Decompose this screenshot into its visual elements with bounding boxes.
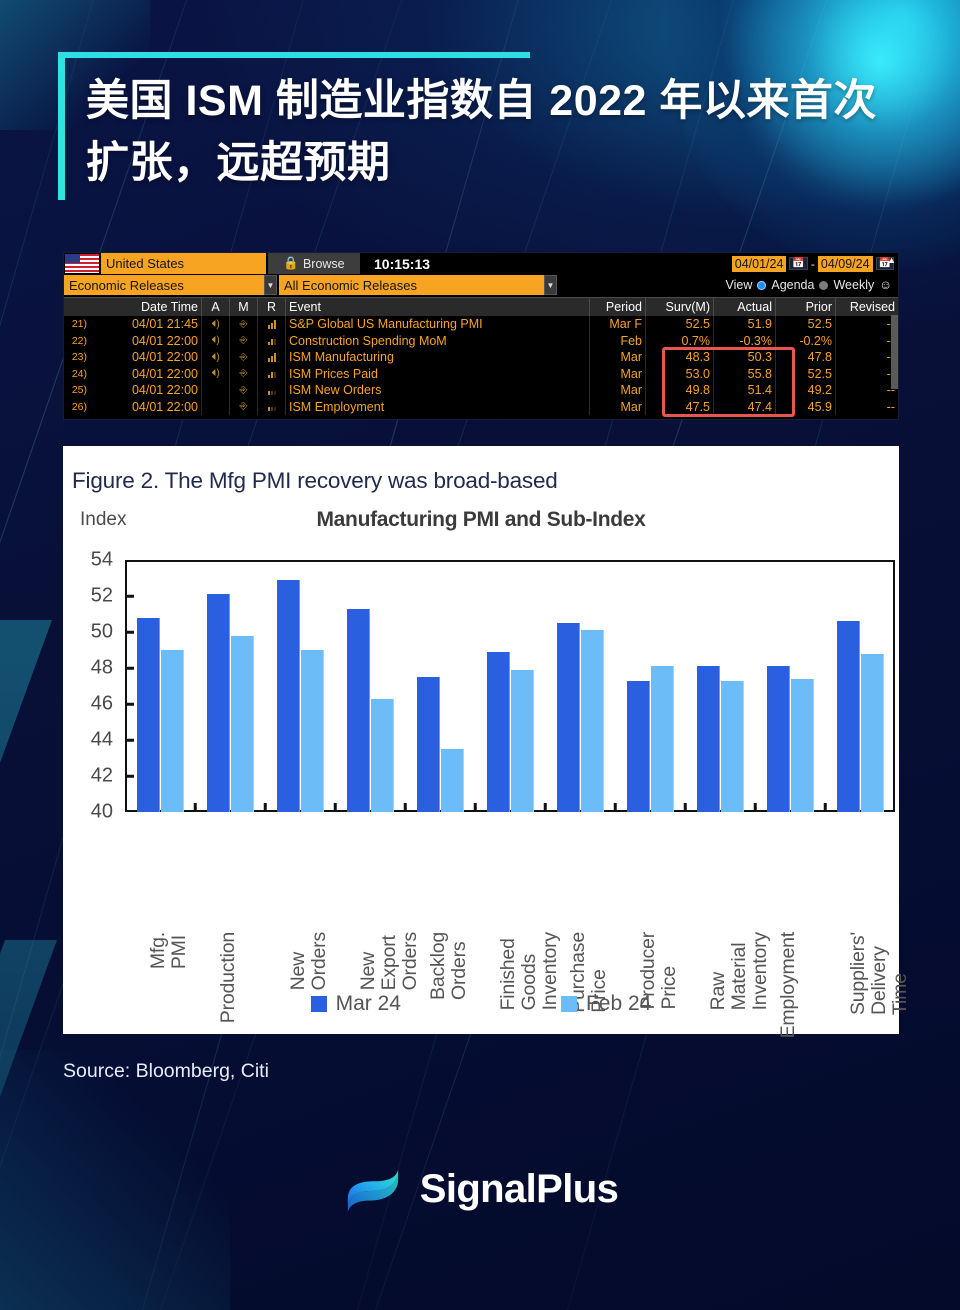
speaker-icon[interactable]: ⏴) — [211, 319, 219, 330]
alert-sound-cell[interactable]: ⏴) — [202, 316, 230, 333]
date-to-field[interactable]: 04/09/24 — [818, 256, 873, 272]
radio-agenda-selected[interactable] — [757, 281, 766, 290]
row-datetime: 04/01 22:00 — [90, 382, 202, 399]
country-field[interactable]: United States — [101, 253, 266, 274]
bar — [487, 652, 510, 812]
bar — [627, 681, 650, 812]
bar — [791, 679, 814, 812]
column-header-survey[interactable]: Surv(M) — [646, 298, 714, 316]
bar — [137, 618, 160, 812]
row-prior: 47.8 — [776, 349, 836, 366]
chart-title: Manufacturing PMI and Sub-Index — [63, 508, 899, 532]
row-datetime: 04/01 22:00 — [90, 399, 202, 416]
row-survey: 48.3 — [646, 349, 714, 366]
bar — [651, 666, 674, 812]
table-row[interactable]: 21)04/01 21:45⏴)⎆S&P Global US Manufactu… — [64, 316, 898, 333]
bar-group — [405, 560, 475, 812]
relevance-cell — [258, 349, 286, 366]
table-row[interactable]: 25)04/01 22:00⎆ISM New OrdersMar49.851.4… — [64, 382, 898, 399]
chevron-down-icon[interactable]: ▼ — [544, 275, 557, 295]
date-range-separator: - — [811, 257, 815, 271]
row-prior: 45.9 — [776, 399, 836, 416]
row-revised: -- — [836, 316, 898, 333]
table-row[interactable]: 22)04/01 22:00⏴)⎆Construction Spending M… — [64, 333, 898, 350]
row-period: Mar — [590, 399, 646, 416]
y-tick-label: 40 — [91, 801, 113, 824]
bar-group — [125, 560, 195, 812]
bar — [231, 636, 254, 812]
row-event-name[interactable]: ISM Prices Paid — [286, 366, 590, 383]
y-tick-label: 48 — [91, 657, 113, 680]
row-revised: -- — [836, 366, 898, 383]
row-survey: 53.0 — [646, 366, 714, 383]
bar-group — [475, 560, 545, 812]
x-tick-mark — [404, 803, 407, 812]
bar-group — [755, 560, 825, 812]
bar-group — [825, 560, 895, 812]
table-row[interactable]: 23)04/01 22:00⏴)⎆ISM ManufacturingMar48.… — [64, 349, 898, 366]
table-header-row: Date Time A M R Event Period Surv(M) Act… — [64, 297, 898, 316]
bell-icon[interactable]: ⎆ — [240, 352, 248, 363]
bar — [837, 621, 860, 812]
x-tick-mark — [684, 803, 687, 812]
bar-group — [265, 560, 335, 812]
alarm-cell[interactable]: ⎆ — [230, 366, 258, 383]
weekly-label[interactable]: Weekly — [833, 278, 874, 292]
row-period: Mar — [590, 349, 646, 366]
speaker-icon[interactable]: ⏴) — [211, 352, 219, 363]
bar — [277, 580, 300, 812]
relevance-cell — [258, 382, 286, 399]
legend-item[interactable]: Feb 24 — [561, 992, 651, 1016]
lock-icon: 🔒 — [283, 256, 299, 271]
signal-bars-icon — [268, 353, 276, 362]
bar — [207, 594, 230, 812]
speaker-icon[interactable]: ⏴) — [211, 335, 219, 346]
table-row[interactable]: 24)04/01 22:00⏴)⎆ISM Prices PaidMar53.05… — [64, 366, 898, 383]
row-actual: 51.9 — [714, 316, 776, 333]
row-survey: 47.5 — [646, 399, 714, 416]
row-index: 24) — [64, 366, 90, 383]
y-tick-label: 42 — [91, 765, 113, 788]
row-datetime: 04/01 22:00 — [90, 333, 202, 350]
relevance-cell — [258, 399, 286, 416]
column-header-actual[interactable]: Actual — [714, 298, 776, 316]
chevron-down-icon[interactable]: ▼ — [264, 275, 277, 295]
alert-sound-cell[interactable] — [202, 382, 230, 399]
row-prior: -0.2% — [776, 333, 836, 350]
alarm-cell[interactable]: ⎆ — [230, 382, 258, 399]
column-header-period[interactable]: Period — [590, 298, 646, 316]
row-event-name[interactable]: ISM Manufacturing — [286, 349, 590, 366]
bar — [347, 609, 370, 812]
row-period: Mar — [590, 382, 646, 399]
bar — [371, 699, 394, 812]
x-tick-mark — [264, 803, 267, 812]
row-datetime: 04/01 22:00 — [90, 366, 202, 383]
triangle-up-icon[interactable]: ▲ — [887, 255, 896, 265]
row-actual: 55.8 — [714, 366, 776, 383]
row-revised: -- — [836, 349, 898, 366]
y-tick-label: 50 — [91, 621, 113, 644]
y-tick-label: 52 — [91, 585, 113, 608]
column-index — [64, 298, 90, 316]
row-prior: 49.2 — [776, 382, 836, 399]
browse-button[interactable]: 🔒 Browse — [268, 253, 360, 274]
row-index: 23) — [64, 349, 90, 366]
row-survey: 49.8 — [646, 382, 714, 399]
bell-icon[interactable]: ⎆ — [240, 385, 248, 396]
accent-bar-vertical — [58, 52, 65, 200]
bar — [697, 666, 720, 812]
releases-dropdown[interactable]: Economic Releases — [64, 275, 264, 295]
column-header-revised[interactable]: Revised — [836, 298, 898, 316]
terminal-toolbar-row-2: Economic Releases ▼ All Economic Release… — [64, 275, 898, 295]
speaker-icon[interactable]: ⏴) — [211, 368, 219, 379]
bar — [301, 650, 324, 812]
us-flag-icon — [65, 254, 99, 273]
legend-label: Mar 24 — [336, 992, 401, 1016]
row-event-name[interactable]: ISM Employment — [286, 399, 590, 416]
signal-bars-icon — [268, 386, 276, 395]
bar — [721, 681, 744, 812]
x-tick-label: New Orders — [288, 932, 330, 990]
row-index: 26) — [64, 399, 90, 416]
bar — [417, 677, 440, 812]
x-tick-mark — [334, 803, 337, 812]
signal-bars-icon — [268, 320, 276, 329]
bar — [861, 654, 884, 812]
signal-bars-icon — [268, 336, 276, 345]
column-header-prior[interactable]: Prior — [776, 298, 836, 316]
bar — [581, 630, 604, 812]
alarm-cell[interactable]: ⎆ — [230, 399, 258, 416]
row-actual: 50.3 — [714, 349, 776, 366]
row-actual: -0.3% — [714, 333, 776, 350]
figure-card: Figure 2. The Mfg PMI recovery was broad… — [63, 446, 899, 1034]
row-event-name[interactable]: ISM New Orders — [286, 382, 590, 399]
bell-icon[interactable]: ⎆ — [240, 319, 248, 330]
view-label: View — [725, 278, 752, 292]
alarm-cell[interactable]: ⎆ — [230, 349, 258, 366]
brand-name: SignalPlus — [420, 1167, 619, 1212]
row-actual: 47.4 — [714, 399, 776, 416]
row-period: Mar F — [590, 316, 646, 333]
column-header-r[interactable]: R — [258, 298, 286, 316]
row-prior: 52.5 — [776, 366, 836, 383]
date-from-field[interactable]: 04/01/24 — [732, 256, 787, 272]
bar-group — [545, 560, 615, 812]
view-mode-controls: View Agenda Weekly ☺ — [725, 275, 898, 295]
alert-sound-cell[interactable]: ⏴) — [202, 366, 230, 383]
row-revised: -- — [836, 333, 898, 350]
calendar-icon[interactable]: 📅 — [789, 257, 807, 270]
x-tick-label: Employment — [778, 932, 799, 1038]
row-index: 22) — [64, 333, 90, 350]
agenda-label[interactable]: Agenda — [771, 278, 814, 292]
terminal-toolbar-row-1: United States 🔒 Browse 10:15:13 04/01/24… — [64, 253, 898, 274]
row-actual: 51.4 — [714, 382, 776, 399]
alert-sound-cell[interactable]: ⏴) — [202, 349, 230, 366]
legend-item[interactable]: Mar 24 — [311, 992, 401, 1016]
row-survey: 0.7% — [646, 333, 714, 350]
column-header-a[interactable]: A — [202, 298, 230, 316]
x-tick-label: Backlog Orders — [428, 932, 470, 1000]
x-tick-mark — [544, 803, 547, 812]
column-header-event[interactable]: Event — [286, 298, 590, 316]
figure-caption: Figure 2. The Mfg PMI recovery was broad… — [72, 468, 558, 494]
alert-sound-cell[interactable] — [202, 399, 230, 416]
legend-swatch — [561, 996, 577, 1012]
x-tick-mark — [474, 803, 477, 812]
table-row[interactable]: 26)04/01 22:00⎆ISM EmploymentMar47.547.4… — [64, 399, 898, 416]
relevance-cell — [258, 316, 286, 333]
footer-brand: SignalPlus — [0, 1158, 960, 1220]
headline-block: 美国 ISM 制造业指数自 2022 年以来首次扩张，远超预期 — [58, 52, 908, 195]
row-survey: 52.5 — [646, 316, 714, 333]
bar — [441, 749, 464, 812]
clock-readout: 10:15:13 — [360, 253, 444, 274]
vertical-scrollbar[interactable] — [891, 315, 898, 389]
bar-group — [195, 560, 265, 812]
x-tick-mark — [824, 803, 827, 812]
signalplus-wave-logo — [342, 1158, 404, 1220]
row-event-name[interactable]: S&P Global US Manufacturing PMI — [286, 316, 590, 333]
x-tick-label: Mfg. PMI — [148, 932, 190, 969]
source-note: Source: Bloomberg, Citi — [63, 1060, 269, 1083]
bar — [161, 650, 184, 812]
bell-icon[interactable]: ⎆ — [240, 401, 248, 412]
bar-group — [335, 560, 405, 812]
row-period: Feb — [590, 333, 646, 350]
bar — [557, 623, 580, 812]
x-tick-mark — [194, 803, 197, 812]
alarm-cell[interactable]: ⎆ — [230, 333, 258, 350]
bar — [511, 670, 534, 812]
row-revised: -- — [836, 382, 898, 399]
row-revised: -- — [836, 399, 898, 416]
y-tick-label: 44 — [91, 729, 113, 752]
accent-bar-horizontal — [58, 52, 530, 58]
signal-bars-icon — [268, 402, 276, 411]
browse-label: Browse — [303, 257, 345, 271]
x-tick-label: New Export Orders — [358, 932, 421, 990]
column-header-date-time[interactable]: Date Time — [90, 298, 202, 316]
row-index: 21) — [64, 316, 90, 333]
y-tick-label: 46 — [91, 693, 113, 716]
radio-weekly[interactable] — [819, 281, 828, 290]
plot-area-wrapper: 4042444648505254 Mfg. PMIProductionNew O… — [125, 560, 895, 812]
bar-group — [615, 560, 685, 812]
relevance-cell — [258, 333, 286, 350]
person-icon[interactable]: ☺ — [879, 278, 892, 292]
bloomberg-terminal-panel: United States 🔒 Browse 10:15:13 04/01/24… — [63, 252, 899, 420]
signal-bars-icon — [268, 369, 276, 378]
y-tick-label: 54 — [91, 549, 113, 572]
row-index: 25) — [64, 382, 90, 399]
column-header-m[interactable]: M — [230, 298, 258, 316]
chart-legend: Mar 24Feb 24 — [63, 992, 899, 1016]
bar-group — [685, 560, 755, 812]
releases-filter-dropdown[interactable]: All Economic Releases — [279, 275, 544, 295]
row-datetime: 04/01 21:45 — [90, 316, 202, 333]
row-period: Mar — [590, 366, 646, 383]
page-title: 美国 ISM 制造业指数自 2022 年以来首次扩张，远超预期 — [86, 70, 908, 195]
table-body: 21)04/01 21:45⏴)⎆S&P Global US Manufactu… — [64, 316, 898, 415]
bell-icon[interactable]: ⎆ — [240, 368, 248, 379]
legend-swatch — [311, 996, 327, 1012]
bell-icon[interactable]: ⎆ — [240, 335, 248, 346]
alarm-cell[interactable]: ⎆ — [230, 316, 258, 333]
relevance-cell — [258, 366, 286, 383]
x-tick-mark — [614, 803, 617, 812]
legend-label: Feb 24 — [586, 992, 651, 1016]
bar — [767, 666, 790, 812]
row-event-name[interactable]: Construction Spending MoM — [286, 333, 590, 350]
x-tick-mark — [754, 803, 757, 812]
row-datetime: 04/01 22:00 — [90, 349, 202, 366]
date-range-control[interactable]: 04/01/24 📅 - 04/09/24 📅 — [732, 253, 898, 274]
row-prior: 52.5 — [776, 316, 836, 333]
alert-sound-cell[interactable]: ⏴) — [202, 333, 230, 350]
